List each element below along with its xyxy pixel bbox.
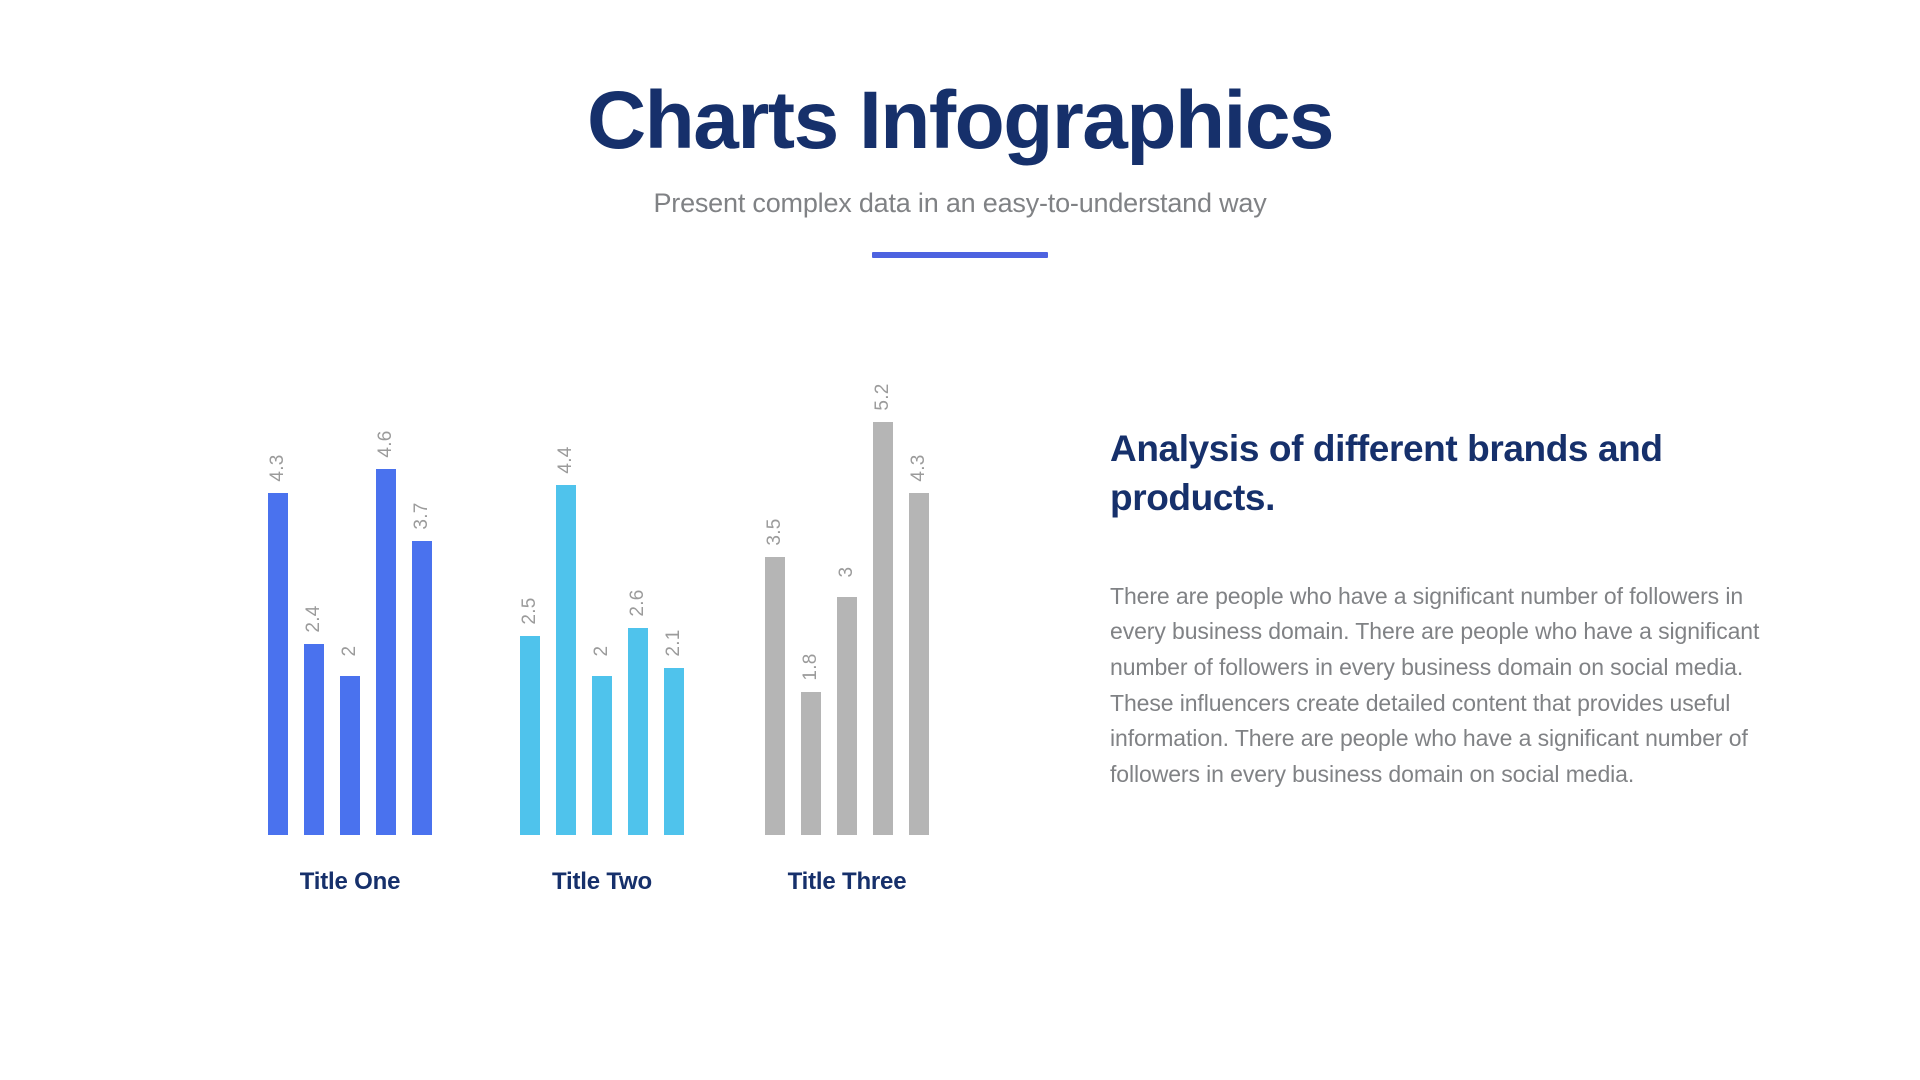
text-panel: Analysis of different brands and product… bbox=[1110, 425, 1760, 793]
panel-heading: Analysis of different brands and product… bbox=[1110, 425, 1760, 523]
bar-group-2: 2.54.422.62.1 bbox=[520, 390, 684, 835]
bar-slot: 5.2 bbox=[873, 390, 893, 835]
bar-value-label: 1.8 bbox=[800, 653, 822, 680]
bar-group-1: 4.32.424.63.7 bbox=[268, 390, 432, 835]
bar[interactable] bbox=[340, 676, 360, 835]
group-label-3: Title Three bbox=[765, 868, 929, 896]
bar-group-3: 3.51.835.24.3 bbox=[765, 390, 929, 835]
bar[interactable] bbox=[909, 493, 929, 835]
bar[interactable] bbox=[664, 668, 684, 835]
bar-value-label: 5.2 bbox=[872, 383, 894, 410]
page-subtitle: Present complex data in an easy-to-under… bbox=[0, 164, 1920, 219]
bar-value-label: 3 bbox=[836, 567, 858, 578]
accent-divider bbox=[872, 252, 1048, 258]
bar[interactable] bbox=[873, 422, 893, 835]
bar[interactable] bbox=[837, 597, 857, 835]
bar-slot: 4.3 bbox=[909, 390, 929, 835]
bar-value-label: 4.6 bbox=[375, 430, 397, 457]
bar-slot: 2 bbox=[340, 390, 360, 835]
bar-slot: 2.6 bbox=[628, 390, 648, 835]
bar-value-label: 4.3 bbox=[267, 454, 289, 481]
bar-slot: 2.1 bbox=[664, 390, 684, 835]
bar-chart: 4.32.424.63.7Title One2.54.422.62.1Title… bbox=[240, 390, 1010, 920]
bar[interactable] bbox=[801, 692, 821, 835]
bar-value-label: 2.4 bbox=[303, 605, 325, 632]
bar[interactable] bbox=[268, 493, 288, 835]
bar-slot: 2 bbox=[592, 390, 612, 835]
page-title: Charts Infographics bbox=[0, 78, 1920, 164]
bar-value-label: 2.5 bbox=[519, 597, 541, 624]
bar-slot: 3.7 bbox=[412, 390, 432, 835]
bar-slot: 1.8 bbox=[801, 390, 821, 835]
bar[interactable] bbox=[520, 636, 540, 835]
group-label-1: Title One bbox=[268, 868, 432, 896]
bar[interactable] bbox=[592, 676, 612, 835]
bar-slot: 4.4 bbox=[556, 390, 576, 835]
bar-value-label: 2 bbox=[591, 646, 613, 657]
header: Charts Infographics Present complex data… bbox=[0, 78, 1920, 258]
bar[interactable] bbox=[376, 469, 396, 835]
bar[interactable] bbox=[556, 485, 576, 835]
bar[interactable] bbox=[304, 644, 324, 835]
bar-slot: 3.5 bbox=[765, 390, 785, 835]
panel-body-text: There are people who have a significant … bbox=[1110, 523, 1760, 793]
bar-value-label: 3.5 bbox=[764, 518, 786, 545]
bar-value-label: 2.1 bbox=[663, 629, 685, 656]
bar-slot: 2.4 bbox=[304, 390, 324, 835]
group-label-2: Title Two bbox=[520, 868, 684, 896]
bar-slot: 3 bbox=[837, 390, 857, 835]
bar-slot: 4.3 bbox=[268, 390, 288, 835]
bar-slot: 2.5 bbox=[520, 390, 540, 835]
bar-value-label: 2.6 bbox=[627, 589, 649, 616]
bar-value-label: 4.4 bbox=[555, 446, 577, 473]
bar[interactable] bbox=[628, 628, 648, 835]
bar-value-label: 4.3 bbox=[908, 454, 930, 481]
bar-value-label: 2 bbox=[339, 646, 361, 657]
bar-value-label: 3.7 bbox=[411, 502, 433, 529]
bar[interactable] bbox=[765, 557, 785, 835]
bar[interactable] bbox=[412, 541, 432, 835]
bar-slot: 4.6 bbox=[376, 390, 396, 835]
